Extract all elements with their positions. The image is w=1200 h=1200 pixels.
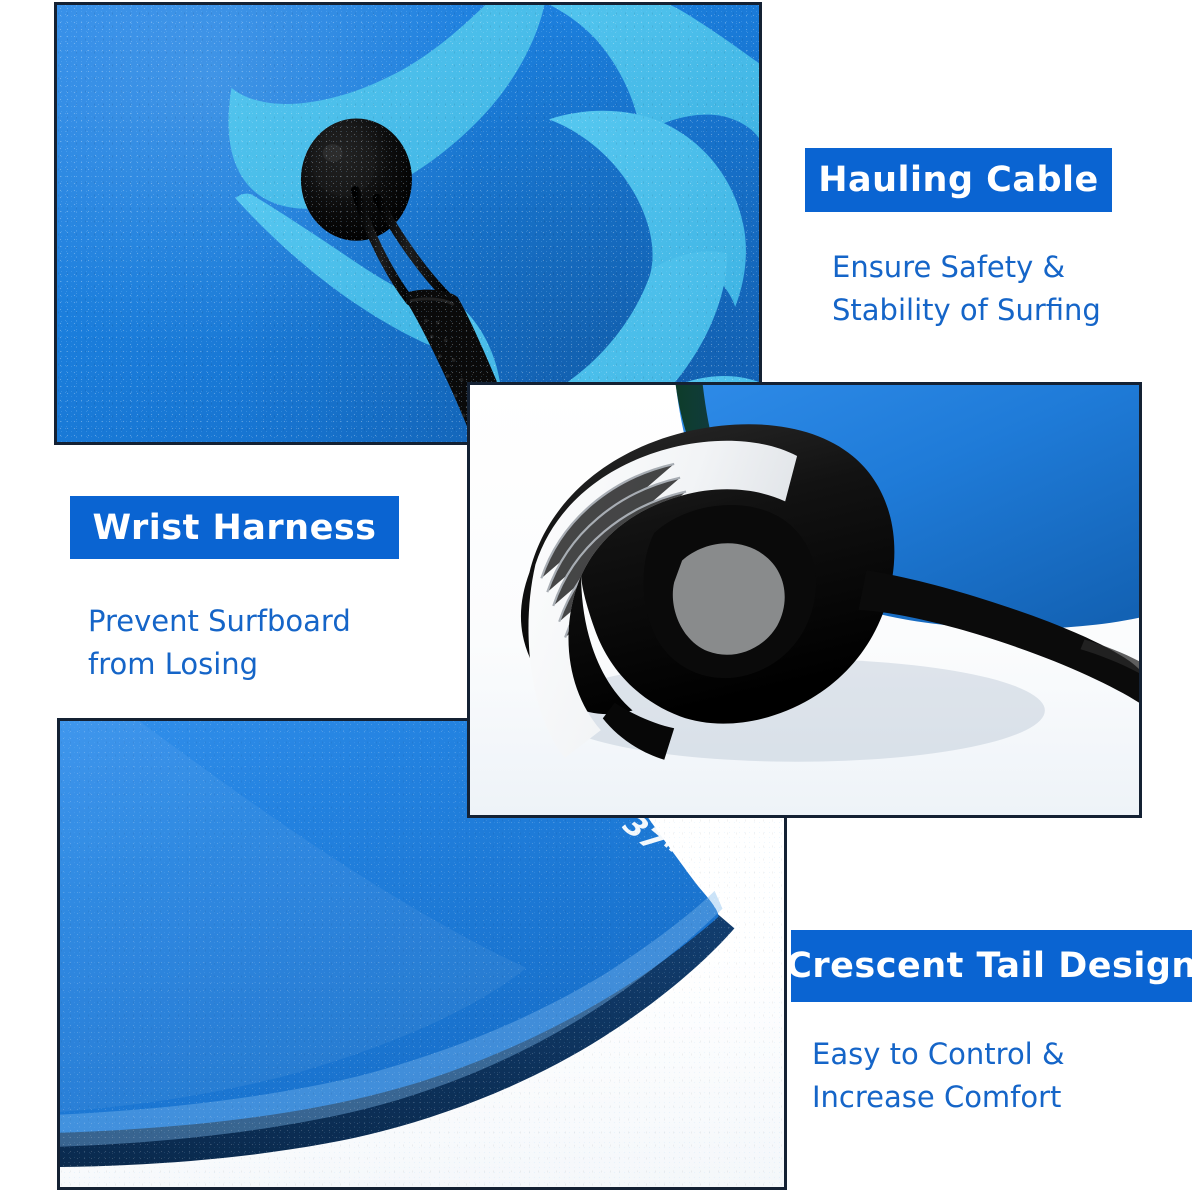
foam-texture-overlay xyxy=(57,5,759,442)
feature-banner-wrist-harness: Wrist Harness xyxy=(70,496,399,559)
feature-caption-hauling-cable: Ensure Safety & Stability of Surfing xyxy=(832,246,1172,332)
feature-title: Wrist Harness xyxy=(93,508,377,548)
wrist-strap-artwork: ⚠ WARNING xyxy=(470,385,1139,815)
feature-caption-wrist-harness: Prevent Surfboard from Losing xyxy=(88,600,418,686)
feature-banner-crescent-tail: Crescent Tail Design xyxy=(791,930,1192,1002)
feature-caption-crescent-tail: Easy to Control & Increase Comfort xyxy=(812,1033,1162,1119)
photo-panel-wrist-harness: ⚠ WARNING xyxy=(467,382,1142,818)
feature-title: Hauling Cable xyxy=(818,160,1099,200)
infographic-canvas: 37" xyxy=(0,0,1200,1200)
feature-title: Crescent Tail Design xyxy=(786,946,1197,986)
feature-banner-hauling-cable: Hauling Cable xyxy=(805,148,1112,212)
photo-panel-hauling-cable xyxy=(54,2,762,445)
